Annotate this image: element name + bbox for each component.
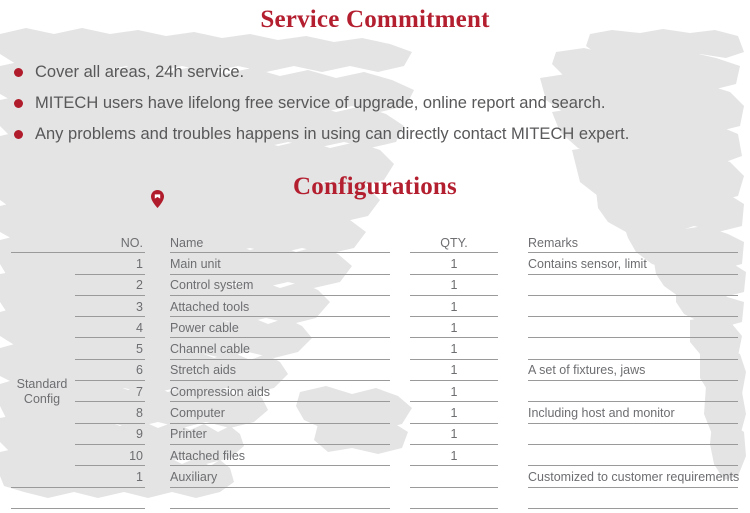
cell-qty: 1: [410, 424, 498, 445]
bullet-icon: [14, 130, 23, 139]
service-commitment-title: Service Commitment: [0, 6, 750, 34]
cell-qty: [410, 466, 498, 487]
slide-page: Service Commitment Cover all areas, 24h …: [0, 0, 750, 513]
cell-no-spacer: [11, 488, 145, 509]
content-layer: Service Commitment Cover all areas, 24h …: [0, 0, 750, 513]
cell-name: Stretch aids: [170, 360, 390, 381]
column-header-no: NO.: [11, 232, 145, 253]
column-no: NO. 1 2 3 4 5 6 7 8 9 10 1 Standard Conf…: [11, 232, 145, 504]
cell-no: 4: [11, 317, 145, 338]
cell-remarks: [528, 424, 738, 445]
column-name: Name Main unit Control system Attached t…: [170, 232, 390, 504]
configurations-title: Configurations: [0, 173, 750, 201]
cell-qty: 1: [410, 338, 498, 359]
service-commitment-list: Cover all areas, 24h service. MITECH use…: [14, 57, 740, 150]
cell-name: Attached files: [170, 445, 390, 466]
cell-remarks: A set of fixtures, jaws: [528, 360, 738, 381]
cell-no: 3: [11, 296, 145, 317]
cell-remarks: [528, 381, 738, 402]
commitment-text: Cover all areas, 24h service.: [35, 64, 244, 81]
cell-remarks: [528, 338, 738, 359]
column-header-remarks: Remarks: [528, 232, 738, 253]
cell-no: 1: [11, 253, 145, 274]
cell-remarks: [528, 445, 738, 466]
cell-no: 2: [11, 275, 145, 296]
cell-qty: 1: [410, 445, 498, 466]
cell-name: Compression aids: [170, 381, 390, 402]
cell-remarks: Contains sensor, limit: [528, 253, 738, 274]
cell-no: 1: [11, 466, 145, 487]
cell-no: 5: [11, 338, 145, 359]
bullet-icon: [14, 68, 23, 77]
cell-qty: 1: [410, 402, 498, 423]
cell-qty-spacer: [410, 488, 498, 509]
column-header-qty: QTY.: [410, 232, 498, 253]
cell-remarks-spacer: [528, 488, 738, 509]
cell-no: 10: [11, 445, 145, 466]
cell-name-spacer: [170, 488, 390, 509]
cell-remarks: Including host and monitor: [528, 402, 738, 423]
cell-remarks: Customized to customer requirements: [528, 466, 738, 487]
cell-qty: 1: [410, 381, 498, 402]
cell-name: Computer: [170, 402, 390, 423]
column-qty: QTY. 1 1 1 1 1 1 1 1 1 1: [410, 232, 498, 504]
cell-qty: 1: [410, 275, 498, 296]
cell-qty: 1: [410, 317, 498, 338]
cell-remarks: [528, 296, 738, 317]
column-header-name: Name: [170, 232, 390, 253]
cell-name: Main unit: [170, 253, 390, 274]
cell-no: 8: [11, 402, 145, 423]
cell-qty: 1: [410, 253, 498, 274]
cell-remarks: [528, 275, 738, 296]
list-item: MITECH users have lifelong free service …: [14, 88, 740, 119]
cell-name: Printer: [170, 424, 390, 445]
configuration-table: NO. 1 2 3 4 5 6 7 8 9 10 1 Standard Conf…: [0, 232, 750, 504]
list-item: Cover all areas, 24h service.: [14, 57, 740, 88]
commitment-text: Any problems and troubles happens in usi…: [35, 126, 629, 143]
cell-no: 7: [11, 381, 145, 402]
cell-qty: 1: [410, 296, 498, 317]
cell-remarks: [528, 317, 738, 338]
list-item: Any problems and troubles happens in usi…: [14, 119, 740, 150]
cell-no: 9: [11, 424, 145, 445]
cell-name: Power cable: [170, 317, 390, 338]
cell-name: Auxiliary: [170, 466, 390, 487]
cell-name: Control system: [170, 275, 390, 296]
cell-name: Channel cable: [170, 338, 390, 359]
bullet-icon: [14, 99, 23, 108]
column-remarks: Remarks Contains sensor, limit A set of …: [528, 232, 738, 504]
cell-qty: 1: [410, 360, 498, 381]
commitment-text: MITECH users have lifelong free service …: [35, 95, 605, 112]
cell-no: 6: [11, 360, 145, 381]
cell-name: Attached tools: [170, 296, 390, 317]
